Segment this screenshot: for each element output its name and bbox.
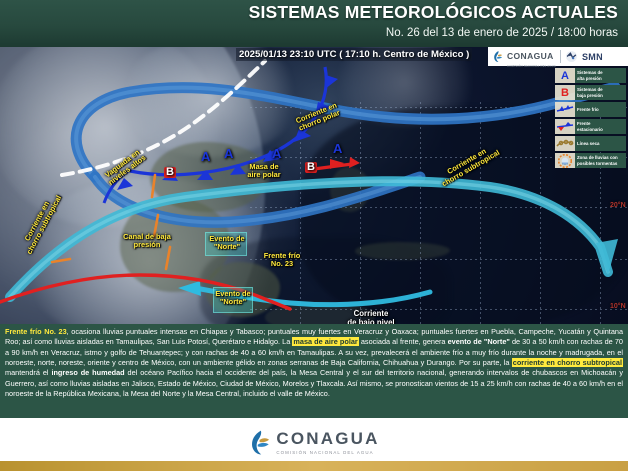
legend-label: Zona de lluvias con posibles tormentas [575,153,626,168]
satellite-timestamp: 2025/01/13 23:10 UTC ( 17:10 h. Centro d… [236,48,472,61]
agency-logo-bar: CONAGUA COMISIÓN NACIONAL DEL AGUA SMN [488,47,628,66]
conagua-logo-icon [492,50,503,63]
legend-item-low-pressure[interactable]: B Sistemas de baja presión [555,85,626,100]
low-pressure-channel-marks [0,47,628,324]
legend-item-high-pressure[interactable]: A Sistemas de alta presión [555,68,626,83]
legend-label: Línea seca [575,136,626,151]
norte-event-box-north [205,232,247,256]
high-pressure-a2: A [224,147,233,160]
weather-map[interactable]: 20°N 10°N [0,47,628,324]
conagua-logo-icon [248,429,270,456]
smn-wordmark: SMN [582,52,603,62]
map-legend: A Sistemas de alta presión B Sistemas de… [555,68,626,170]
forecast-summary-text: Frente frío No. 23, ocasiona lluvias pun… [0,324,628,418]
bulletin-number-date: No. 26 del 13 de enero de 2025 / 18:00 h… [386,27,618,39]
footer-agency-name: CONAGUA [276,429,379,449]
high-pressure-a4: A [333,142,342,155]
legend-label: Sistemas de alta presión [575,68,626,83]
page-title: SISTEMAS METEOROLÓGICOS ACTUALES [249,2,618,23]
legend-label: Sistemas de baja presión [575,85,626,100]
cold-front-symbol-icon [555,102,575,117]
smn-logo-icon [565,50,578,63]
page-footer: CONAGUA COMISIÓN NACIONAL DEL AGUA [0,418,628,471]
conagua-wordmark: CONAGUA COMISIÓN NACIONAL DEL AGUA [507,46,556,68]
high-pressure-a3: A [272,147,281,160]
footer-gold-bar [0,461,628,471]
norte-event-box-south [213,287,253,313]
low-pressure-b1: B [164,167,176,178]
low-pressure-symbol-icon: B [555,85,575,100]
stationary-front-symbol-icon [555,119,575,134]
legend-item-rain-storm[interactable]: Zona de lluvias con posibles tormentas [555,153,626,168]
footer-agency-tagline: COMISIÓN NACIONAL DEL AGUA [276,450,379,455]
footer-wordmark: CONAGUA COMISIÓN NACIONAL DEL AGUA [276,429,379,455]
rain-storm-symbol-icon [555,153,575,168]
legend-item-cold-front[interactable]: Frente frío [555,102,626,117]
page-header: SISTEMAS METEOROLÓGICOS ACTUALES No. 26 … [0,0,628,47]
high-pressure-a1: A [201,150,210,163]
weather-bulletin-page: 20°N 10°N [0,0,628,471]
high-pressure-symbol-icon: A [555,68,575,83]
low-pressure-b2: B [305,162,317,173]
legend-item-stationary-front[interactable]: Frente estacionario [555,119,626,134]
legend-item-dry-line[interactable]: Línea seca [555,136,626,151]
dry-line-symbol-icon [555,136,575,151]
legend-label: Frente frío [575,102,626,117]
footer-conagua-logo: CONAGUA COMISIÓN NACIONAL DEL AGUA [248,429,379,456]
legend-label: Frente estacionario [575,119,626,134]
logo-divider [560,50,561,63]
